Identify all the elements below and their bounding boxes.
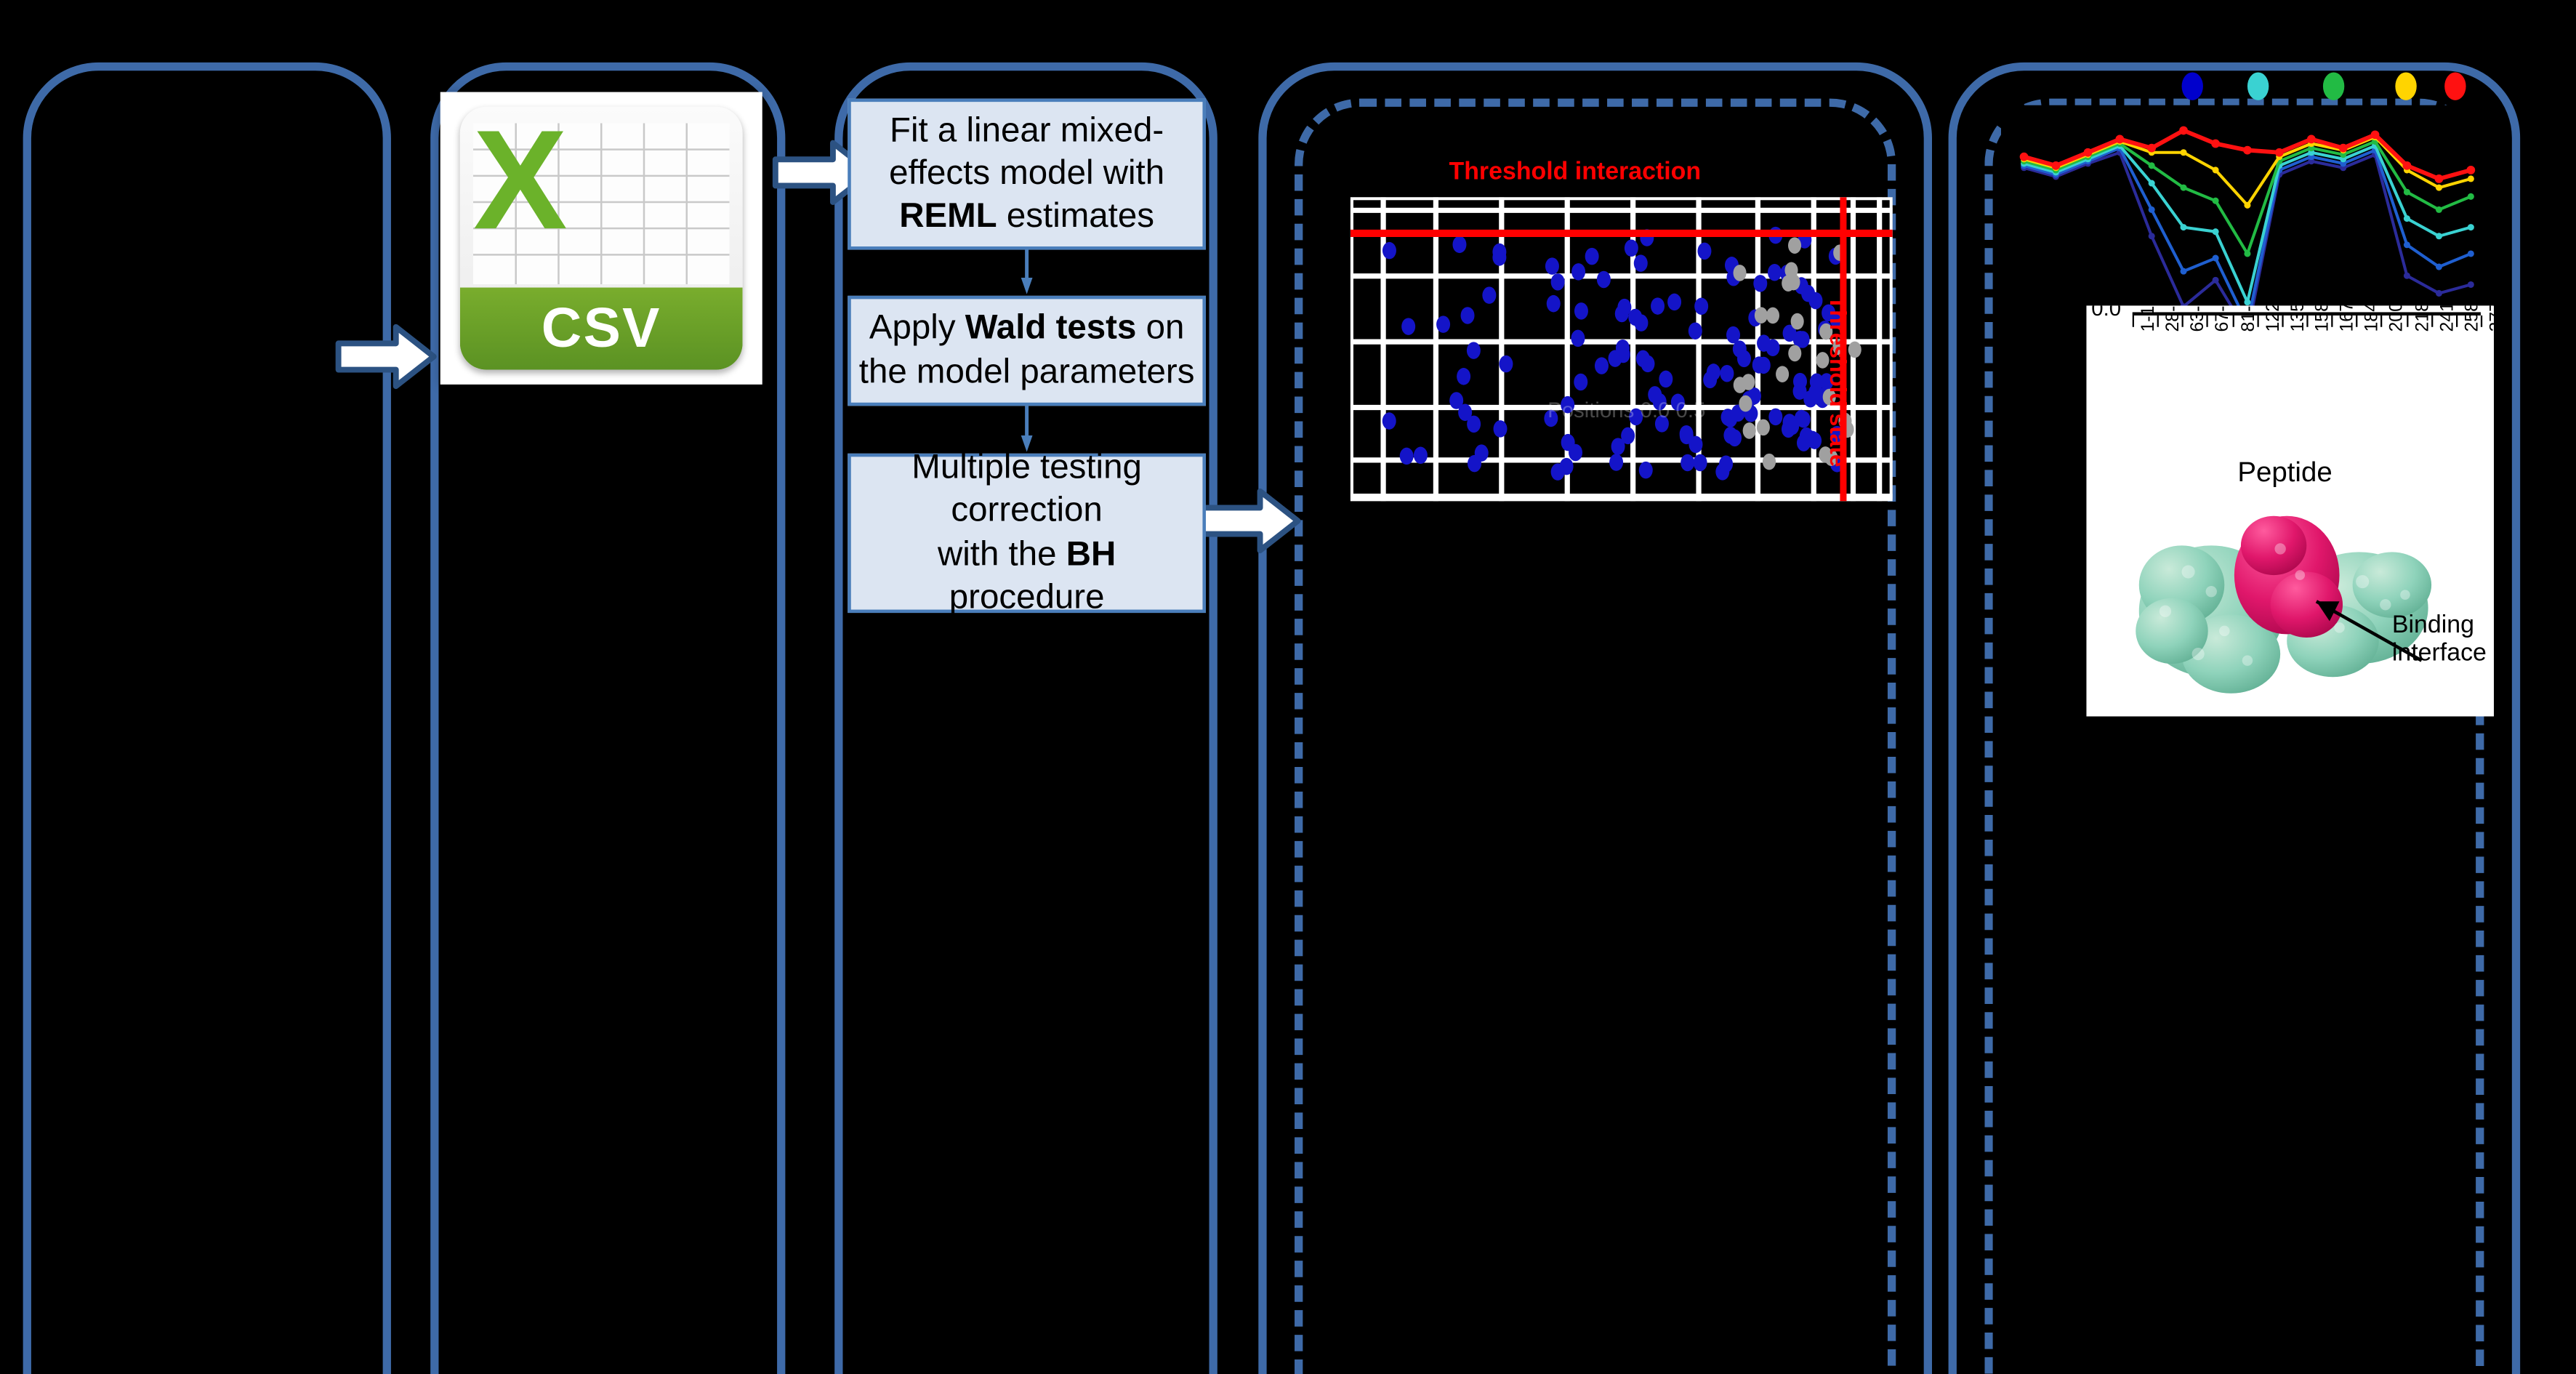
volcano-axis-faint-text: Positions 0.0 0.5: [1547, 398, 1705, 422]
peptide-axis-tick: [2431, 316, 2432, 327]
peptide-axis-tick: [2157, 316, 2159, 327]
excel-x-glyph: X: [473, 110, 563, 251]
step-text-wald-tests: Apply Wald tests on the model parameters: [858, 308, 1196, 394]
step-text-multiple-testing: Multiple testing correctionwith the BH p…: [858, 448, 1196, 619]
step-connector-2: [1021, 406, 1034, 454]
peptide-tick-label: 184-199: [2363, 305, 2383, 332]
flow-arrow-input-to-csv: [335, 322, 437, 391]
peptide-tick-label: 28-44: [2164, 305, 2183, 332]
csv-file-icon: X CSV: [460, 107, 743, 370]
peptide-axis-tick: [2381, 316, 2383, 327]
legend-dot-5: [2444, 72, 2466, 100]
peptide-axis-tick: [2282, 316, 2283, 327]
peptide-tick-label: 200-214: [2388, 305, 2407, 332]
peptide-tick-label: 122-129: [2263, 305, 2283, 332]
peptide-tick-label: 167-180: [2338, 305, 2358, 332]
legend-dot-2: [2247, 72, 2269, 100]
csv-label: CSV: [542, 297, 661, 361]
peptide-chart-legend: [2172, 72, 2484, 102]
peptide-tick-label: 63-73: [2189, 305, 2208, 332]
legend-dot-1: [2182, 72, 2203, 100]
csv-label-band: CSV: [460, 288, 743, 370]
peptide-axis-tick: [2182, 316, 2183, 327]
step-connector-1: [1021, 250, 1034, 296]
peptide-tick-label: 67-75: [2213, 305, 2233, 332]
peptide-axis-tick: [2456, 316, 2458, 327]
step-box-fit-model[interactable]: Fit a linear mixed-effects model with RE…: [848, 99, 1206, 250]
peptide-tick-label: 81-101: [2239, 305, 2258, 332]
peptide-figure-panel: 0.0 1-1528-4463-7367-7581-101122-129135-…: [2086, 305, 2494, 716]
peptide-axis-tick: [2481, 316, 2482, 327]
protein-surface-structure: [2116, 490, 2438, 707]
peptide-axis-tick: [2332, 316, 2333, 327]
input-panel: [23, 63, 391, 1374]
step-box-multiple-testing[interactable]: Multiple testing correctionwith the BH p…: [848, 454, 1206, 613]
y-axis-zero-tick-label: 0.0: [2091, 305, 2121, 320]
volcano-plot: Threshold interaction Threshold state Po…: [1351, 158, 1893, 536]
peptide-axis-title: Peptide: [2237, 457, 2332, 489]
csv-file-icon-frame: X CSV: [440, 92, 762, 385]
peptide-tick-label: 135-144: [2288, 305, 2308, 332]
binding-interface-annotation: Bindinginterface: [2392, 611, 2487, 668]
legend-dot-4: [2395, 72, 2416, 100]
peptide-tick-label: 158-166: [2313, 305, 2333, 332]
step-box-wald-tests[interactable]: Apply Wald tests on the model parameters: [848, 296, 1206, 406]
peptide-axis-tick: [2232, 316, 2234, 327]
legend-dot-3: [2323, 72, 2344, 100]
diagram-stage: X CSV Fit a linear mixed-effects model w…: [0, 0, 2576, 1374]
peptide-axis-tick: [2207, 316, 2208, 327]
flow-arrow-model-to-results: [1199, 486, 1301, 555]
peptide-tick-label: 277-284: [2487, 305, 2494, 332]
peptide-axis-tick: [2257, 316, 2258, 327]
step-text-fit-model: Fit a linear mixed-effects model with RE…: [858, 110, 1196, 238]
volcano-plot-canvas: [1351, 197, 1893, 501]
peptide-axis-tick: [2133, 316, 2134, 327]
threshold-interaction-label: Threshold interaction: [1449, 158, 1701, 185]
peptide-axis-tick: [2356, 316, 2358, 327]
peptide-tick-label: 241-257: [2437, 305, 2457, 332]
threshold-state-label: Threshold state: [1825, 296, 1851, 467]
peptide-tick-label: 1-15: [2139, 305, 2159, 332]
peptide-axis-tick: [2306, 316, 2308, 327]
peptide-tick-label: 218-237: [2412, 305, 2432, 332]
peptide-tick-label: 258-266: [2463, 305, 2482, 332]
peptide-axis-tick: [2406, 316, 2407, 327]
